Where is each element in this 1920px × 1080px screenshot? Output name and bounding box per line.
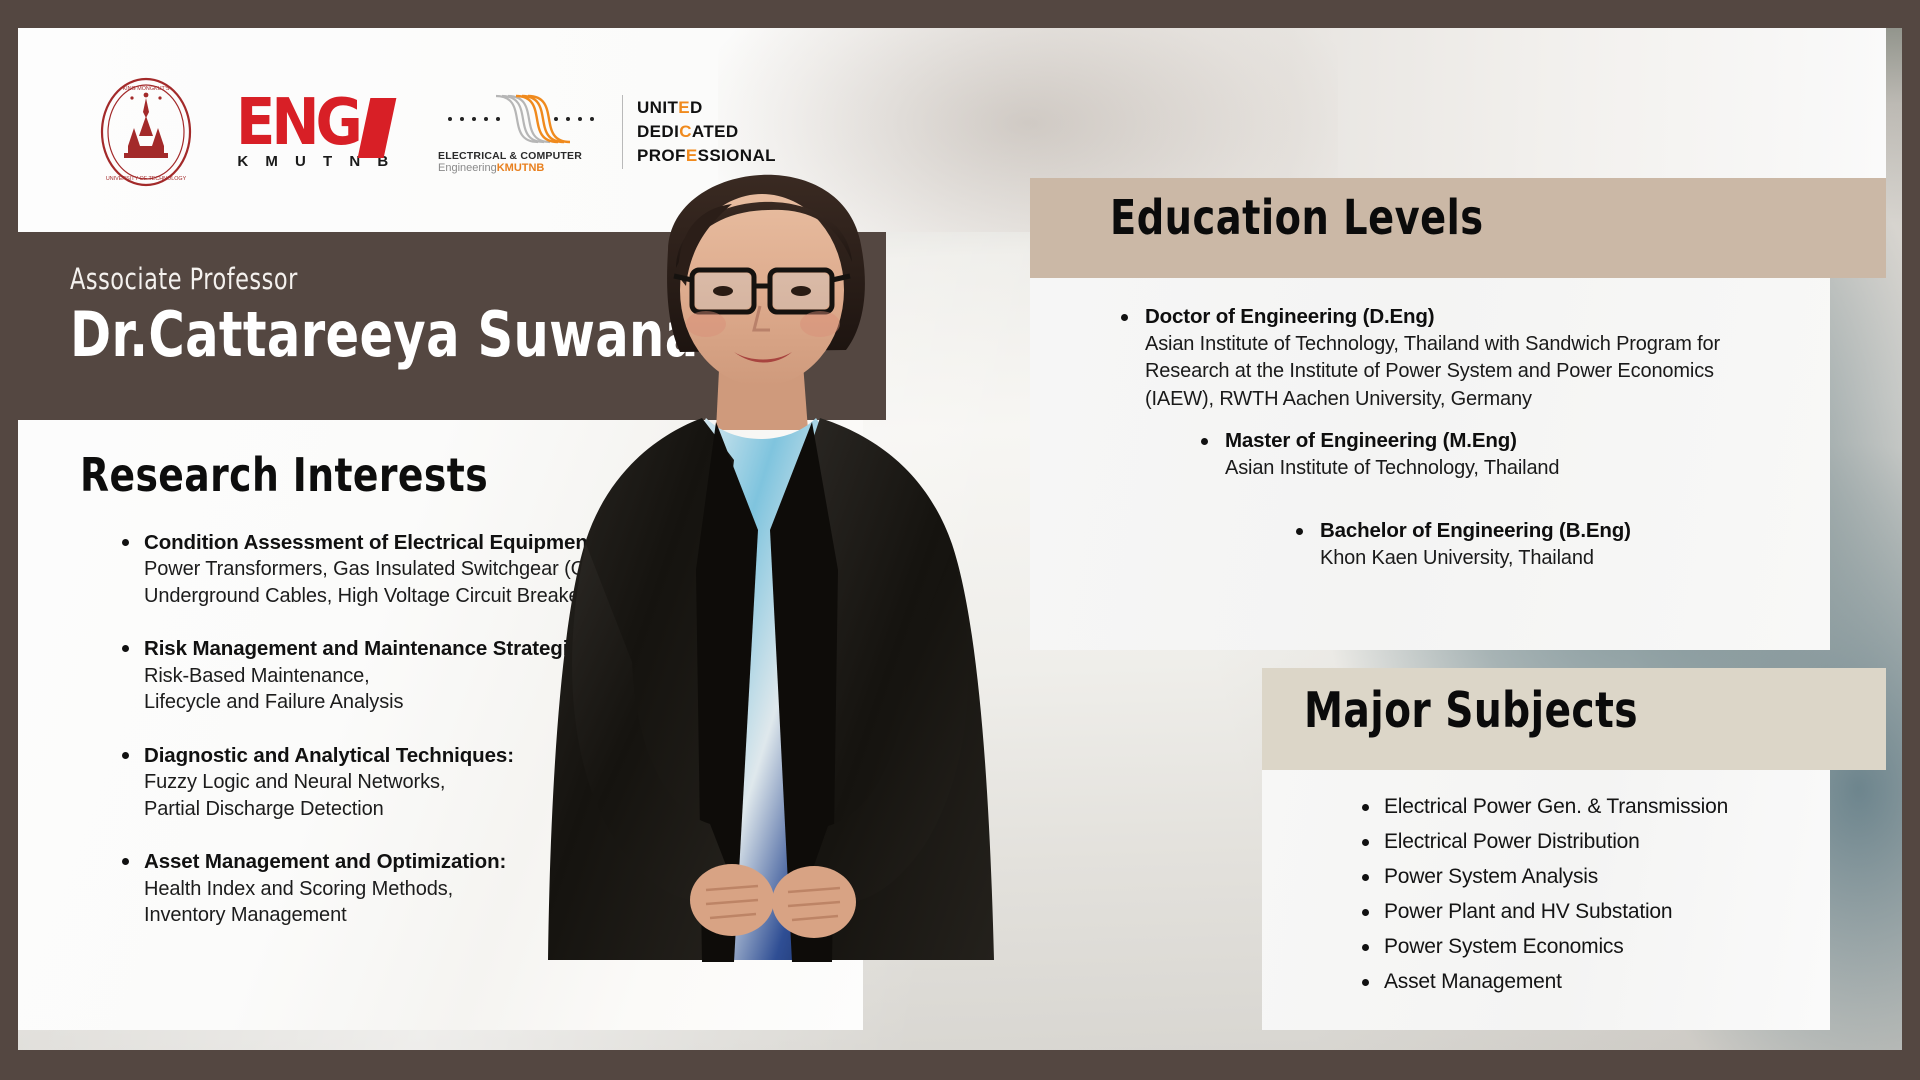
profile-role: Associate Professor xyxy=(70,262,298,296)
education-degree: Master of Engineering (M.Eng) xyxy=(1225,428,1825,455)
kmutnb-seal-icon: KING MONGKUT'S UNIVERSITY OF TECHNOLOGY xyxy=(98,76,194,188)
education-entry: Master of Engineering (M.Eng) Asian Inst… xyxy=(1225,428,1825,482)
education-levels-band: Education Levels xyxy=(1030,178,1886,278)
svg-text:KING MONGKUT'S: KING MONGKUT'S xyxy=(123,86,170,92)
education-entry: Bachelor of Engineering (B.Eng) Khon Kae… xyxy=(1320,518,1840,572)
education-line: Khon Kaen University, Thailand xyxy=(1320,545,1840,573)
eng-wordmark: ENG xyxy=(236,94,396,153)
bullet-icon xyxy=(1296,528,1303,535)
research-interests-title: Research Interests xyxy=(80,448,488,502)
list-item: Power System Economics xyxy=(1362,936,1830,957)
education-degree: Bachelor of Engineering (B.Eng) xyxy=(1320,518,1840,545)
portrait-photo xyxy=(520,100,1140,1050)
education-degree: Doctor of Engineering (D.Eng) xyxy=(1145,304,1805,331)
education-line: Asian Institute of Technology, Thailand … xyxy=(1145,331,1805,359)
eng-logo: ENG K M U T N B xyxy=(236,94,396,171)
list-item: Electrical Power Distribution xyxy=(1362,831,1830,852)
education-line: Asian Institute of Technology, Thailand xyxy=(1225,455,1825,483)
list-item: Electrical Power Gen. & Transmission xyxy=(1362,796,1830,817)
education-levels-title: Education Levels xyxy=(1110,190,1484,246)
education-line: Research at the Institute of Power Syste… xyxy=(1145,358,1805,386)
major-subjects-title: Major Subjects xyxy=(1304,682,1638,739)
education-entry: Doctor of Engineering (D.Eng) Asian Inst… xyxy=(1145,304,1805,413)
bullet-icon xyxy=(1201,438,1208,445)
major-subjects-panel: Electrical Power Gen. & Transmission Ele… xyxy=(1262,770,1830,1030)
education-levels-panel: Doctor of Engineering (D.Eng) Asian Inst… xyxy=(1030,278,1830,650)
education-line: (IAEW), RWTH Aachen University, Germany xyxy=(1145,386,1805,414)
svg-text:UNIVERSITY OF TECHNOLOGY: UNIVERSITY OF TECHNOLOGY xyxy=(106,176,187,182)
list-item: Power Plant and HV Substation xyxy=(1362,901,1830,922)
major-subjects-list: Electrical Power Gen. & Transmission Ele… xyxy=(1262,770,1830,992)
list-item: Power System Analysis xyxy=(1362,866,1830,887)
eng-slash-shape xyxy=(358,98,397,158)
poster-root: KING MONGKUT'S UNIVERSITY OF TECHNOLOGY … xyxy=(0,0,1920,1080)
major-subjects-band: Major Subjects xyxy=(1262,668,1886,770)
list-item: Asset Management xyxy=(1362,971,1830,992)
